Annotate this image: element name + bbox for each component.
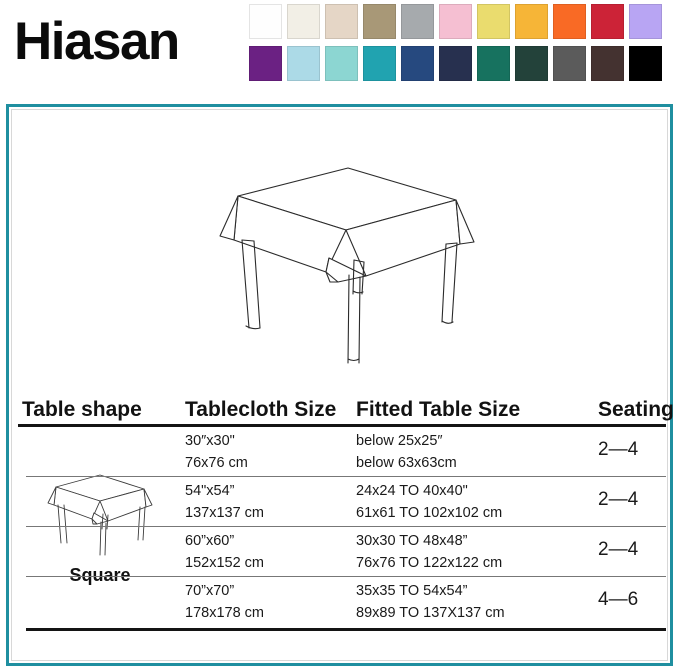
fitted-size-inches: 35x35 TO 54x54” <box>356 584 468 599</box>
fitted-size-cm: 76x76 TO 122x122 cm <box>356 556 502 571</box>
color-swatch-black[interactable] <box>629 46 662 81</box>
color-swatch-light-blue[interactable] <box>287 46 320 81</box>
fitted-size-cm: below 63x63cm <box>356 456 457 471</box>
fitted-size-inches: 24x24 TO 40x40" <box>356 484 468 499</box>
tablecloth-size-cm: 178x178 cm <box>185 606 264 621</box>
fitted-size-cm: 61x61 TO 102x102 cm <box>356 506 502 521</box>
cell-seating: 4—6 <box>598 590 638 610</box>
color-swatch-dark-green[interactable] <box>515 46 548 81</box>
square-table-illustration <box>12 154 673 374</box>
spec-table: Table shape Tablecloth Size Fitted Table… <box>12 385 673 425</box>
color-swatch-red[interactable] <box>591 4 624 39</box>
spec-table-header: Table shape Tablecloth Size Fitted Table… <box>12 385 673 425</box>
tablecloth-size-inches: 70”x70” <box>185 584 234 599</box>
color-swatch-navy-blue[interactable] <box>401 46 434 81</box>
table-bottom-divider <box>26 628 666 631</box>
table-row: 30″x30"76x76 cmbelow 25x25″below 63x63cm… <box>12 427 673 477</box>
color-swatch-grey[interactable] <box>401 4 434 39</box>
cell-seating: 2—4 <box>598 540 638 560</box>
column-header-tablecloth-size: Tablecloth Size <box>185 398 336 422</box>
color-swatch-row-2 <box>249 46 662 81</box>
color-swatch-white[interactable] <box>249 4 282 39</box>
cell-seating: 2—4 <box>598 490 638 510</box>
table-row: 54"x54”137x137 cm24x24 TO 40x40"61x61 TO… <box>12 477 673 527</box>
spec-table-body: 30″x30"76x76 cmbelow 25x25″below 63x63cm… <box>12 427 673 627</box>
color-swatch-charcoal-grey[interactable] <box>553 46 586 81</box>
color-swatch-grid <box>249 4 662 81</box>
tablecloth-size-cm: 76x76 cm <box>185 456 248 471</box>
color-swatch-yellow[interactable] <box>477 4 510 39</box>
brand-logo: Hiasan <box>14 8 179 76</box>
color-swatch-taupe[interactable] <box>363 4 396 39</box>
fitted-size-cm: 89x89 TO 137X137 cm <box>356 606 505 621</box>
page-header: Hiasan <box>0 0 679 96</box>
column-header-table-shape: Table shape <box>22 398 142 422</box>
column-header-fitted-table-size: Fitted Table Size <box>356 398 520 422</box>
color-swatch-purple[interactable] <box>249 46 282 81</box>
spec-card: Table shape Tablecloth Size Fitted Table… <box>6 104 673 666</box>
tablecloth-size-inches: 60”x60” <box>185 534 234 549</box>
column-header-seating: Seating <box>598 398 674 422</box>
fitted-size-inches: 30x30 TO 48x48” <box>356 534 468 549</box>
tablecloth-size-cm: 152x152 cm <box>185 556 264 571</box>
color-swatch-beige[interactable] <box>325 4 358 39</box>
color-swatch-orange[interactable] <box>553 4 586 39</box>
color-swatch-row-1 <box>249 4 662 39</box>
tablecloth-size-cm: 137x137 cm <box>185 506 264 521</box>
color-swatch-emerald[interactable] <box>477 46 510 81</box>
color-swatch-gold[interactable] <box>515 4 548 39</box>
fitted-size-inches: below 25x25″ <box>356 434 443 449</box>
table-row: 70”x70”178x178 cm35x35 TO 54x54”89x89 TO… <box>12 577 673 627</box>
tablecloth-size-inches: 30″x30" <box>185 434 235 449</box>
table-row: 60”x60”152x152 cm30x30 TO 48x48”76x76 TO… <box>12 527 673 577</box>
spec-card-inner: Table shape Tablecloth Size Fitted Table… <box>11 109 668 661</box>
color-swatch-lavender[interactable] <box>629 4 662 39</box>
cell-seating: 2—4 <box>598 440 638 460</box>
color-swatch-aqua[interactable] <box>325 46 358 81</box>
color-swatch-dark-navy[interactable] <box>439 46 472 81</box>
color-swatch-dark-brown[interactable] <box>591 46 624 81</box>
color-swatch-pink[interactable] <box>439 4 472 39</box>
tablecloth-size-inches: 54"x54” <box>185 484 234 499</box>
color-swatch-teal[interactable] <box>363 46 396 81</box>
color-swatch-ivory[interactable] <box>287 4 320 39</box>
